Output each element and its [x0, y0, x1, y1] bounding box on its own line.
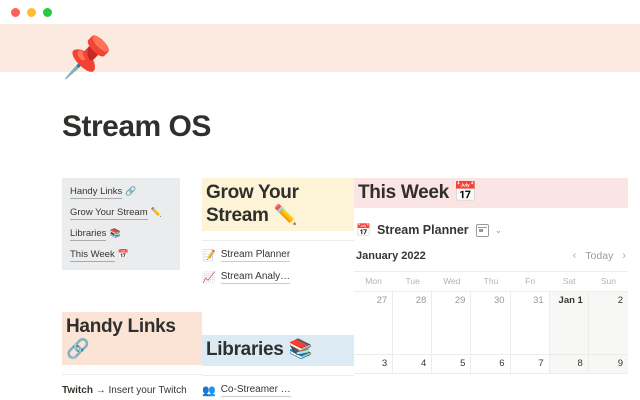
calendar-toolbar: January 2022 ‹ Today › — [356, 250, 626, 262]
calendar-month-label: January 2022 — [356, 250, 426, 262]
pencil-icon: ✏️ — [151, 207, 162, 217]
page-cover-banner[interactable]: 📌 — [0, 24, 640, 72]
next-month-button[interactable]: › — [622, 251, 626, 262]
nav-link-label: Libraries — [70, 228, 106, 241]
calendar-icon: 📅 — [118, 249, 129, 259]
calendar-day-cell[interactable]: 30 — [471, 292, 510, 354]
today-button[interactable]: Today — [585, 250, 613, 262]
nav-links-block: Handy Links🔗 Grow Your Stream✏️ Librarie… — [62, 178, 180, 270]
calendar-day-cell[interactable]: 31 — [511, 292, 550, 354]
day-number: 4 — [393, 359, 426, 369]
twitch-label: Twitch — [62, 385, 93, 396]
handy-links-divider — [62, 374, 202, 375]
page-link-label: Co-Streamer … — [221, 384, 291, 397]
calendar-week-row: 3 4 5 6 7 8 9 — [354, 355, 628, 374]
calendar-grid: Mon Tue Wed Thu Fri Sat Sun 27 28 29 30 … — [354, 271, 628, 374]
column-left: Handy Links🔗 Grow Your Stream✏️ Librarie… — [62, 178, 202, 400]
day-number: 29 — [432, 296, 465, 306]
calendar-day-cell[interactable]: 7 — [511, 355, 550, 373]
calendar-view-icon[interactable] — [476, 224, 489, 237]
calendar-day-cell[interactable]: 29 — [432, 292, 471, 354]
calendar-day-cell[interactable]: 8 — [550, 355, 589, 373]
app-window: 📌 Stream OS Handy Links🔗 Grow Your Strea… — [0, 0, 640, 400]
page-link-label: Stream Analy… — [221, 271, 290, 284]
chevron-down-icon[interactable]: ⌄ — [495, 226, 503, 235]
link-icon: 🔗 — [125, 186, 136, 196]
libraries-heading-text: Libraries — [206, 339, 284, 360]
calendar-day-cell[interactable]: 28 — [393, 292, 432, 354]
calendar-day-cell[interactable]: 3 — [354, 355, 393, 373]
this-week-heading-text: This Week — [358, 182, 449, 203]
day-number: 27 — [354, 296, 387, 306]
weekday-label: Fri — [511, 272, 550, 291]
page-content: Stream OS Handy Links🔗 Grow Your Stream✏… — [0, 110, 640, 400]
page-title[interactable]: Stream OS — [62, 110, 640, 144]
handy-links-heading-text: Handy Links — [66, 316, 176, 337]
calendar-day-cell[interactable]: 2 — [589, 292, 628, 354]
page-link-co-streamer[interactable]: 👥 Co-Streamer … — [202, 384, 354, 397]
prev-month-button[interactable]: ‹ — [573, 251, 577, 262]
calendar-week-row: 27 28 29 30 31 Jan 1 2 — [354, 292, 628, 355]
weekday-label: Sun — [589, 272, 628, 291]
books-icon: 📚 — [109, 228, 120, 238]
day-number: 8 — [550, 359, 583, 369]
calendar-day-cell[interactable]: 27 — [354, 292, 393, 354]
weekday-label: Sat — [550, 272, 589, 291]
pencil-icon: ✏️ — [274, 205, 297, 226]
grow-your-stream-heading[interactable]: Grow Your Stream ✏️ — [202, 178, 354, 231]
weekday-label: Thu — [471, 272, 510, 291]
maximize-window-button[interactable] — [43, 8, 52, 17]
page-link-stream-planner[interactable]: 📝 Stream Planner — [202, 249, 354, 262]
day-number: 3 — [354, 359, 387, 369]
database-title[interactable]: Stream Planner — [377, 223, 469, 237]
day-number: 5 — [432, 359, 465, 369]
weekday-label: Wed — [432, 272, 471, 291]
nav-link-this-week[interactable]: This Week📅 — [70, 249, 170, 261]
nav-link-grow-your-stream[interactable]: Grow Your Stream✏️ — [70, 207, 170, 219]
this-week-heading[interactable]: This Week 📅 — [354, 178, 628, 208]
day-number: 31 — [511, 296, 544, 306]
database-header: 📅 Stream Planner ⌄ — [356, 223, 628, 237]
day-number: Jan 1 — [550, 296, 583, 306]
day-number: 6 — [471, 359, 504, 369]
calendar-nav: ‹ Today › — [573, 250, 626, 262]
nav-link-libraries[interactable]: Libraries📚 — [70, 228, 170, 240]
column-middle: Grow Your Stream ✏️ 📝 Stream Planner 📈 S… — [202, 178, 354, 400]
weekday-label: Tue — [393, 272, 432, 291]
window-titlebar — [0, 0, 640, 24]
calendar-day-cell[interactable]: 9 — [589, 355, 628, 373]
weekday-label: Mon — [354, 272, 393, 291]
nav-link-label: This Week — [70, 249, 115, 262]
nav-link-label: Grow Your Stream — [70, 207, 148, 220]
pushpin-icon[interactable]: 📌 — [62, 38, 112, 78]
nav-link-handy-links[interactable]: Handy Links🔗 — [70, 186, 170, 198]
close-window-button[interactable] — [11, 8, 20, 17]
day-number: 28 — [393, 296, 426, 306]
calendar-day-cell[interactable]: 5 — [432, 355, 471, 373]
link-icon: 🔗 — [66, 339, 89, 360]
day-number: 2 — [589, 296, 623, 306]
handy-links-paragraph[interactable]: Twitch → Insert your Twitch URL here — [62, 383, 202, 400]
books-icon: 📚 — [289, 339, 312, 360]
minimize-window-button[interactable] — [27, 8, 36, 17]
calendar-icon: 📅 — [454, 182, 477, 203]
calendar-weekday-header: Mon Tue Wed Thu Fri Sat Sun — [354, 272, 628, 292]
column-layout: Handy Links🔗 Grow Your Stream✏️ Librarie… — [0, 178, 640, 400]
chart-increasing-icon: 📈 — [202, 271, 216, 284]
day-number: 9 — [589, 359, 623, 369]
calendar-day-cell[interactable]: 6 — [471, 355, 510, 373]
calendar-day-cell-today[interactable]: Jan 1 — [550, 292, 589, 354]
calendar-icon: 📅 — [356, 223, 371, 237]
day-number: 30 — [471, 296, 504, 306]
day-number: 7 — [511, 359, 544, 369]
libraries-heading[interactable]: Libraries 📚 — [202, 335, 354, 365]
calendar-day-cell[interactable]: 4 — [393, 355, 432, 373]
busts-in-silhouette-icon: 👥 — [202, 384, 216, 397]
grow-your-stream-divider — [202, 240, 354, 241]
column-right: This Week 📅 📅 Stream Planner ⌄ January 2… — [354, 178, 628, 400]
memo-icon: 📝 — [202, 249, 216, 262]
handy-links-heading[interactable]: Handy Links 🔗 — [62, 312, 202, 365]
left-column-spacer — [62, 270, 202, 312]
middle-column-spacer — [202, 293, 354, 335]
libraries-divider — [202, 375, 354, 376]
page-link-stream-analytics[interactable]: 📈 Stream Analy… — [202, 271, 354, 284]
page-link-label: Stream Planner — [221, 249, 290, 262]
nav-link-label: Handy Links — [70, 186, 122, 199]
